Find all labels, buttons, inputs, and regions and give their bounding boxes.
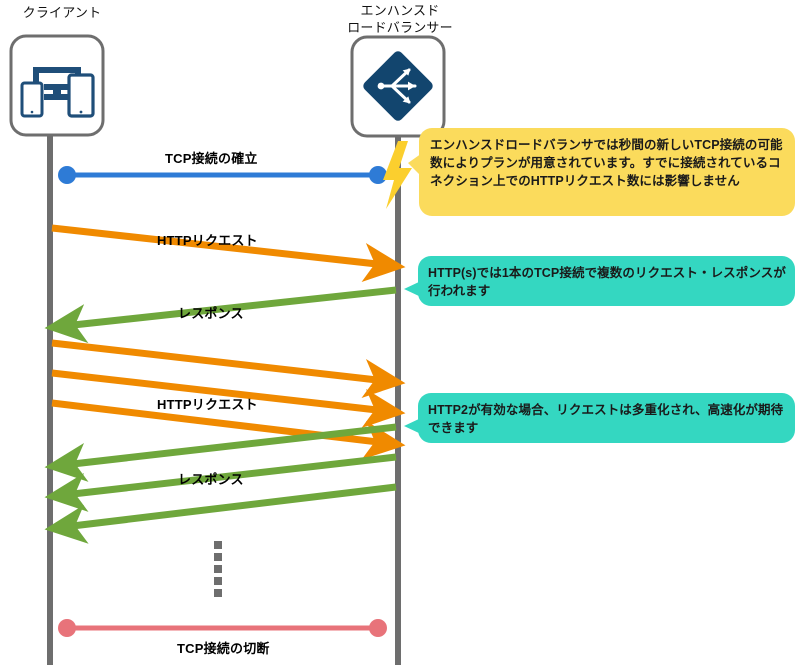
actor-label-load-balancer: エンハンスド ロードバランサー: [330, 2, 470, 36]
actor-label-client: クライアント: [0, 4, 124, 21]
message-label-response-1: レスポンス: [178, 303, 244, 322]
callout-text-http2: HTTP2が有効な場合、リクエストは多重化され、高速化が期待できます: [428, 401, 790, 437]
message-label-tcp-connect: TCP接続の確立: [165, 148, 258, 167]
message-label-http-request-1: HTTPリクエスト: [157, 230, 258, 249]
callout-text-http-keepalive: HTTP(s)では1本のTCP接続で複数のリクエスト・レスポンスが行われます: [428, 264, 790, 300]
message-label-http-request-group: HTTPリクエスト: [157, 394, 258, 413]
diagram-vector-layer: [0, 0, 800, 665]
message-tcp-disconnect: [58, 619, 387, 637]
message-http-request-group: [52, 343, 386, 443]
message-label-response-group: レスポンス: [178, 469, 244, 488]
message-tcp-connect: [58, 166, 387, 184]
continuation-dots: [214, 541, 222, 597]
message-label-tcp-disconnect: TCP接続の切断: [177, 638, 270, 657]
sequence-diagram-canvas: クライアント エンハンスド ロードバランサー TCP接続の確立 HTTPリクエス…: [0, 0, 800, 665]
callout-text-enhanced-lb: エンハンスドロードバランサでは秒間の新しいTCP接続の可能数によりプランが用意さ…: [430, 136, 790, 190]
